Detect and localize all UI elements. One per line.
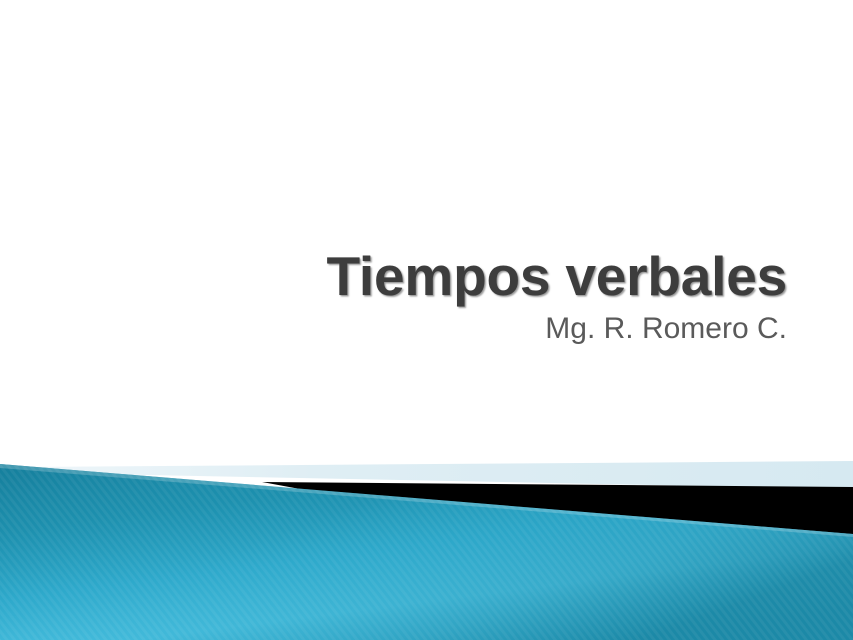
slide-title: Tiempos verbales <box>0 248 787 304</box>
teal-banner-texture <box>0 464 853 640</box>
presentation-slide: Tiempos verbales Mg. R. Romero C. <box>0 0 853 640</box>
slide-subtitle: Mg. R. Romero C. <box>0 312 787 345</box>
teal-banner-shading <box>0 464 853 640</box>
teal-banner-shape <box>0 464 853 640</box>
teal-edge-highlight <box>0 464 853 537</box>
title-block: Tiempos verbales Mg. R. Romero C. <box>0 248 853 345</box>
black-wedge-shape <box>262 482 853 537</box>
pale-band-shape <box>24 461 853 489</box>
